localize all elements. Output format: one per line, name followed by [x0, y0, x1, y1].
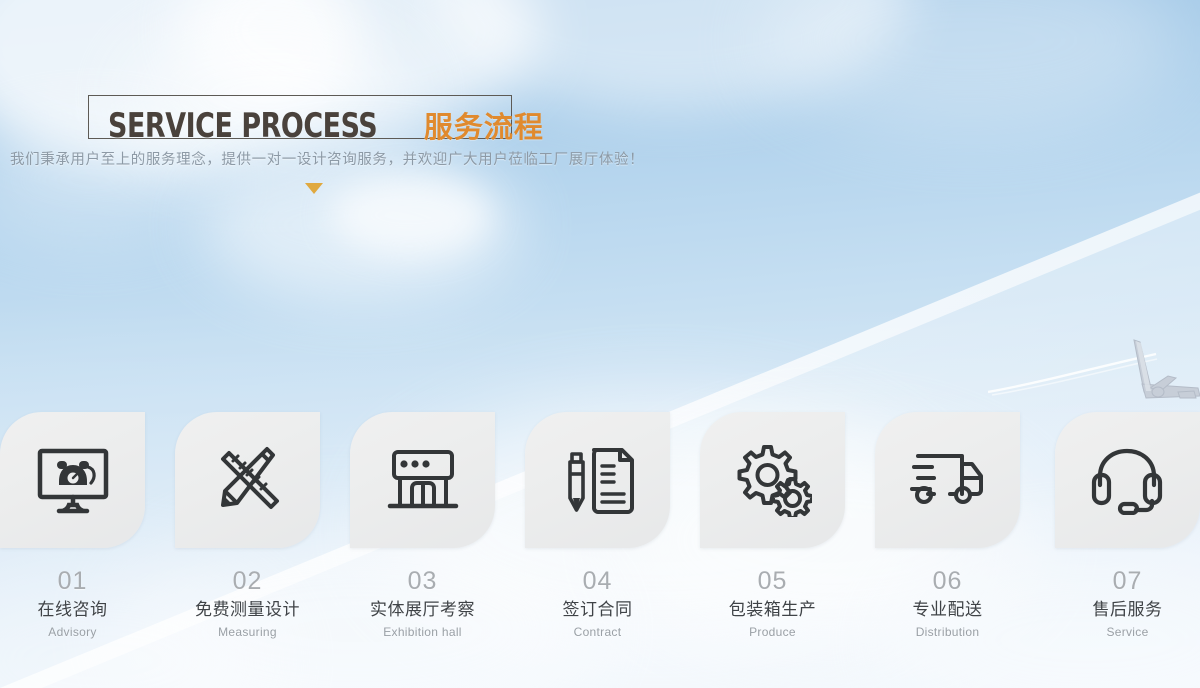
step-title-en: Advisory	[0, 623, 145, 641]
step-number: 04	[525, 566, 670, 596]
monitor-phone-icon	[35, 445, 111, 515]
caption-7: 07 售后服务 Service	[1055, 566, 1200, 641]
ruler-pencil-icon	[211, 443, 285, 517]
step-title-en: Service	[1055, 623, 1200, 641]
caption-3: 03 实体展厅考察 Exhibition hall	[350, 566, 495, 641]
process-card-5[interactable]	[700, 412, 845, 548]
step-title-cn: 售后服务	[1055, 596, 1200, 623]
gears-icon	[734, 443, 812, 517]
step-title-cn: 免费测量设计	[175, 596, 320, 623]
caption-2: 02 免费测量设计 Measuring	[175, 566, 320, 641]
caption-4: 04 签订合同 Contract	[525, 566, 670, 641]
step-number: 01	[0, 566, 145, 596]
process-card-4[interactable]	[525, 412, 670, 548]
pen-document-icon	[560, 444, 636, 516]
step-title-en: Contract	[525, 623, 670, 641]
process-card-1[interactable]	[0, 412, 145, 548]
page-stage: SERVICE PROCESS 服务流程 我们秉承用户至上的服务理念，提供一对一…	[0, 0, 1200, 688]
step-title-en: Exhibition hall	[350, 623, 495, 641]
title-chinese: 服务流程	[424, 104, 544, 146]
step-title-cn: 包装箱生产	[700, 596, 845, 623]
process-card-3[interactable]	[350, 412, 495, 548]
process-card-2[interactable]	[175, 412, 320, 548]
step-number: 03	[350, 566, 495, 596]
process-card-7[interactable]	[1055, 412, 1200, 548]
step-number: 06	[875, 566, 1020, 596]
title-english: SERVICE PROCESS	[108, 106, 377, 146]
step-title-cn: 签订合同	[525, 596, 670, 623]
process-cards-row	[0, 412, 1200, 550]
cloud-shape	[330, 175, 490, 255]
process-card-6[interactable]	[875, 412, 1020, 548]
section-subtitle: 我们秉承用户至上的服务理念，提供一对一设计咨询服务，并欢迎广大用户莅临工厂展厅体…	[10, 148, 644, 169]
step-title-en: Measuring	[175, 623, 320, 641]
step-title-en: Distribution	[875, 623, 1020, 641]
caret-down-icon	[305, 183, 323, 194]
caption-5: 05 包装箱生产 Produce	[700, 566, 845, 641]
headset-icon	[1090, 445, 1166, 515]
step-title-en: Produce	[700, 623, 845, 641]
step-title-cn: 专业配送	[875, 596, 1020, 623]
step-number: 07	[1055, 566, 1200, 596]
step-title-cn: 实体展厅考察	[350, 596, 495, 623]
step-title-cn: 在线咨询	[0, 596, 145, 623]
storefront-icon	[384, 446, 462, 514]
step-number: 05	[700, 566, 845, 596]
delivery-truck-icon	[908, 450, 988, 510]
caption-1: 01 在线咨询 Advisory	[0, 566, 145, 641]
step-number: 02	[175, 566, 320, 596]
caption-6: 06 专业配送 Distribution	[875, 566, 1020, 641]
section-title: SERVICE PROCESS 服务流程	[108, 104, 544, 146]
airplane-icon	[1106, 336, 1200, 410]
